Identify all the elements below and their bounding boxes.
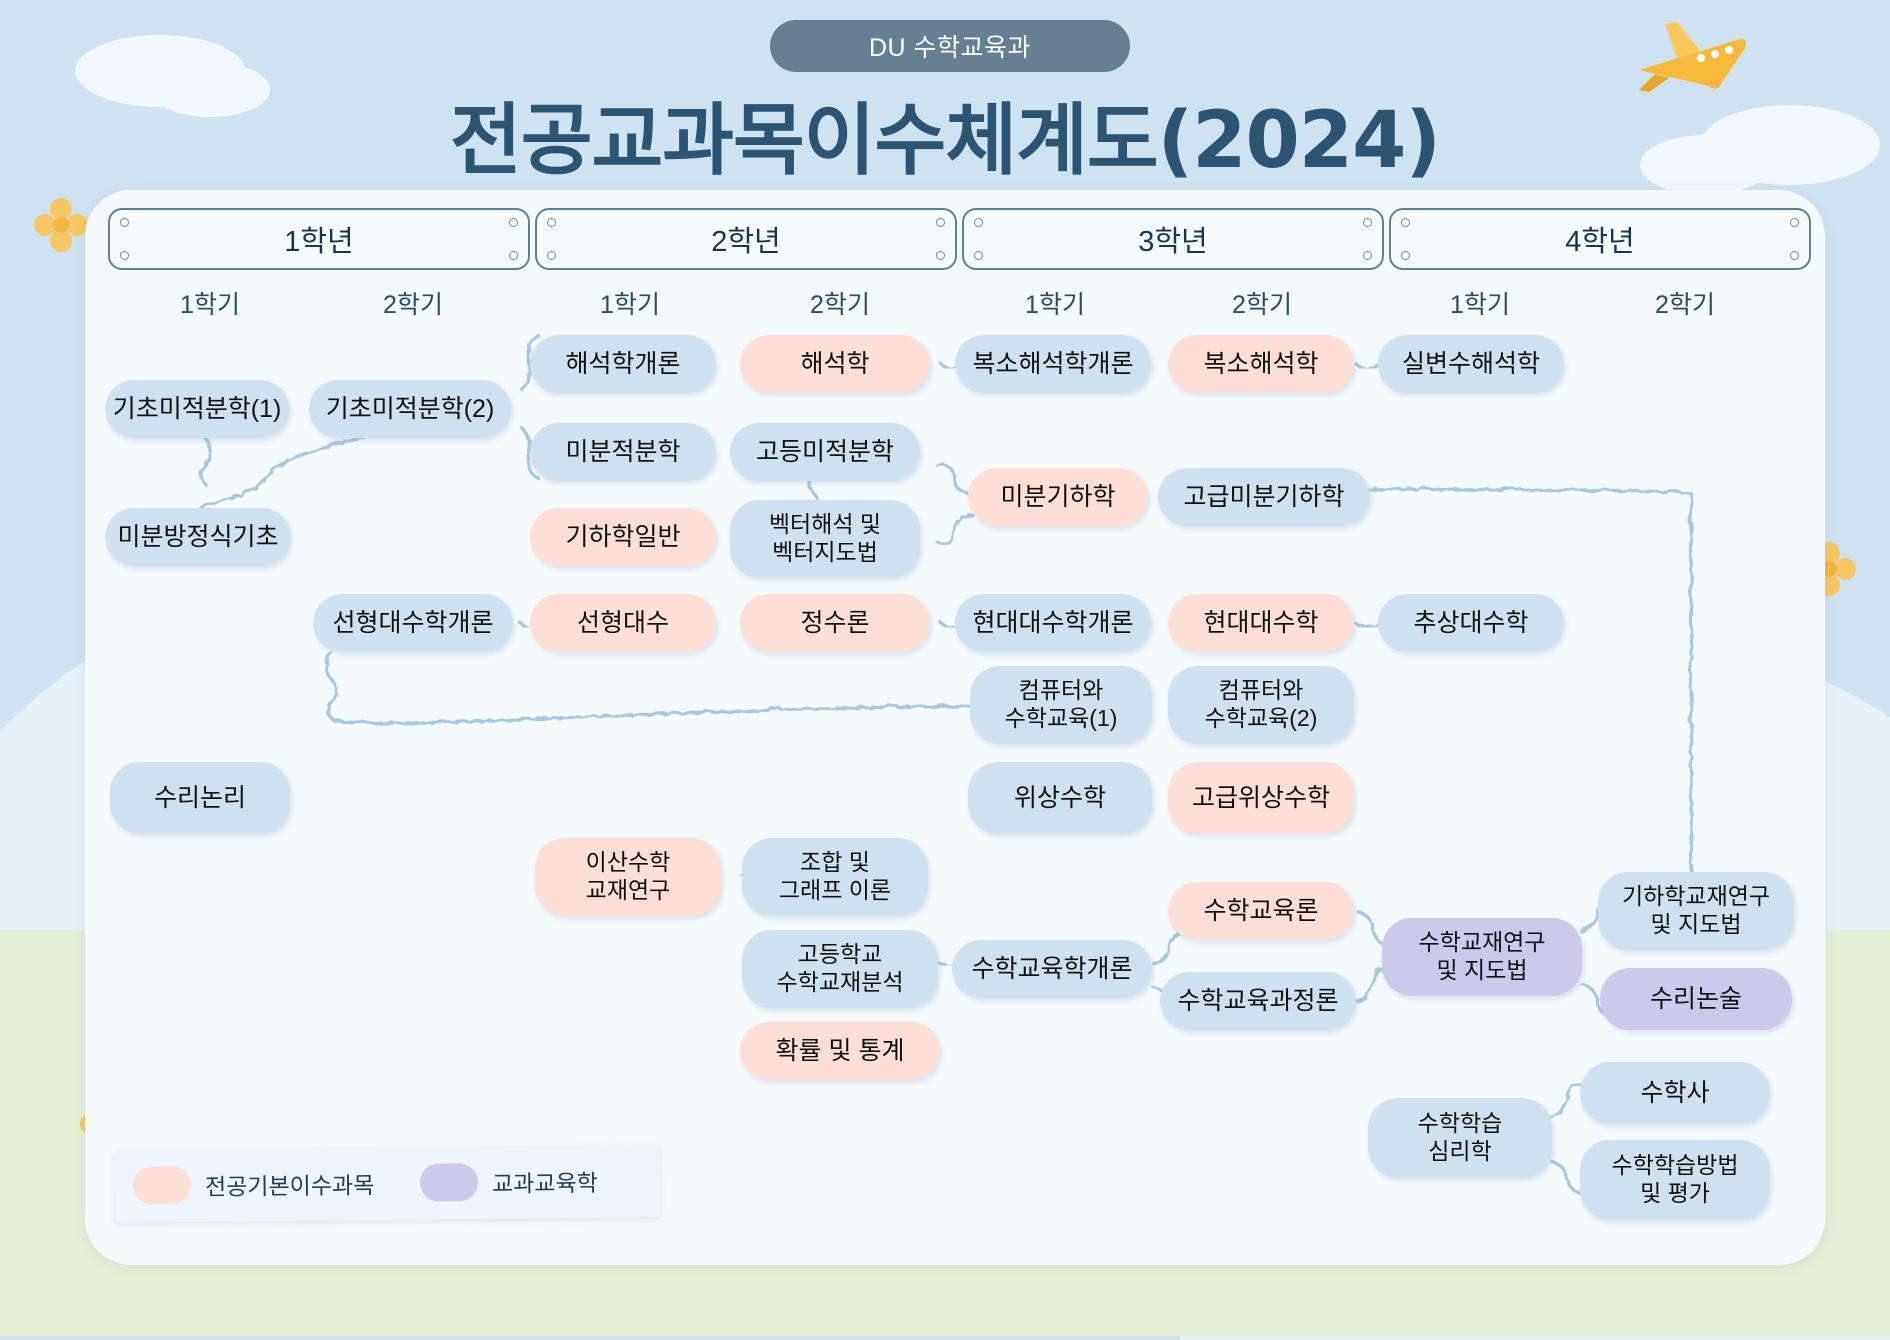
course-node[interactable]: 선형대수학개론	[313, 594, 513, 652]
course-node[interactable]: 조합 및 그래프 이론	[742, 838, 928, 916]
semester-label-1-2: 2학기	[323, 285, 503, 321]
course-node[interactable]: 컴퓨터와 수학교육(2)	[1168, 666, 1354, 744]
course-label: 수학교육론	[1203, 896, 1318, 926]
course-node[interactable]: 기초미적분학(1)	[105, 380, 289, 438]
legend-item-pedagogy: 교과교육학	[420, 1162, 598, 1202]
course-label: 위상수학	[1014, 783, 1106, 813]
course-label: 벡터해석 및 벡터지도법	[769, 511, 881, 566]
course-node[interactable]: 기초미적분학(2)	[309, 380, 511, 438]
course-node[interactable]: 현대대수학개론	[955, 594, 1151, 652]
department-badge: DU 수학교육과	[770, 20, 1130, 72]
course-node[interactable]: 수학학습 심리학	[1368, 1098, 1552, 1178]
year-header-3: 3학년	[962, 208, 1384, 270]
course-node[interactable]: 해석학개론	[530, 335, 716, 393]
semester-label-4-1: 1학기	[1390, 285, 1570, 321]
course-node[interactable]: 수학사	[1580, 1062, 1770, 1124]
course-node[interactable]: 수학학습방법 및 평가	[1580, 1140, 1770, 1220]
legend-label: 전공기본이수과목	[205, 1166, 375, 1202]
course-label: 고등학교 수학교재분석	[777, 941, 904, 996]
semester-label-2-2: 2학기	[750, 285, 930, 321]
legend-swatch-purple	[420, 1163, 478, 1202]
course-label: 고급미분기하학	[1183, 482, 1344, 512]
course-label: 수리논리	[154, 783, 246, 813]
legend-label: 교과교육학	[492, 1164, 598, 1199]
course-label: 선형대수	[577, 608, 669, 638]
course-label: 기초미적분학(1)	[113, 394, 282, 424]
course-node[interactable]: 추상대수학	[1378, 594, 1564, 652]
course-label: 수학학습 심리학	[1418, 1110, 1503, 1165]
course-label: 미분적분학	[565, 437, 680, 467]
course-node[interactable]: 선형대수	[530, 594, 716, 652]
course-label: 수학교육학개론	[971, 954, 1132, 984]
year-header-4: 4학년	[1389, 208, 1811, 270]
course-node[interactable]: 확률 및 통계	[740, 1022, 940, 1080]
course-label: 선형대수학개론	[332, 608, 493, 638]
course-label: 복소해석학	[1203, 349, 1318, 379]
year-header-2: 2학년	[535, 208, 957, 270]
semester-label-2-1: 1학기	[540, 285, 720, 321]
course-node[interactable]: 미분기하학	[968, 468, 1148, 526]
course-node[interactable]: 미분방정식기초	[105, 508, 291, 566]
course-node[interactable]: 고급위상수학	[1168, 762, 1354, 834]
course-label: 수학교육과정론	[1177, 986, 1338, 1016]
semester-label-4-2: 2학기	[1595, 285, 1775, 321]
course-label: 조합 및 그래프 이론	[779, 849, 891, 904]
year-label: 4학년	[1565, 218, 1635, 260]
course-node[interactable]: 컴퓨터와 수학교육(1)	[970, 666, 1152, 744]
course-node[interactable]: 고등미적분학	[730, 423, 920, 481]
course-label: 이산수학 교재연구	[586, 849, 671, 904]
course-node[interactable]: 수학교육과정론	[1160, 972, 1356, 1030]
course-label: 해석학개론	[565, 349, 680, 379]
legend-swatch-pink	[133, 1166, 191, 1205]
legend: 전공기본이수과목 교과교육학	[115, 1145, 661, 1223]
course-label: 수학교재연구 및 지도법	[1419, 929, 1546, 984]
course-node[interactable]: 복소해석학개론	[955, 335, 1151, 393]
course-node[interactable]: 해석학	[740, 335, 930, 393]
semester-label-3-1: 1학기	[965, 285, 1145, 321]
year-label: 2학년	[711, 218, 781, 260]
course-label: 고등미적분학	[756, 437, 894, 467]
course-node[interactable]: 미분적분학	[530, 423, 716, 481]
page-title: 전공교과목이수체계도(2024)	[0, 78, 1890, 190]
course-label: 기하학일반	[565, 522, 680, 552]
course-label: 수리논술	[1650, 984, 1742, 1014]
course-node[interactable]: 수학교육학개론	[952, 940, 1152, 998]
course-node[interactable]: 수리논리	[110, 762, 290, 834]
course-label: 현대대수학	[1203, 608, 1318, 638]
year-label: 1학년	[284, 218, 354, 260]
course-node[interactable]: 수리논술	[1600, 968, 1792, 1030]
course-node[interactable]: 수학교재연구 및 지도법	[1382, 918, 1582, 996]
course-node[interactable]: 기하학교재연구 및 지도법	[1598, 872, 1794, 950]
course-label: 해석학	[800, 349, 869, 379]
course-label: 추상대수학	[1413, 608, 1528, 638]
course-node[interactable]: 복소해석학	[1168, 335, 1354, 393]
course-label: 컴퓨터와 수학교육(2)	[1205, 677, 1318, 732]
course-node[interactable]: 이산수학 교재연구	[535, 838, 721, 916]
course-label: 복소해석학개론	[972, 349, 1133, 379]
legend-item-basic: 전공기본이수과목	[133, 1164, 375, 1205]
main-panel	[85, 190, 1825, 1265]
course-node[interactable]: 실변수해석학	[1378, 335, 1564, 393]
semester-label-1-1: 1학기	[120, 285, 300, 321]
course-label: 미분기하학	[1000, 482, 1115, 512]
course-node[interactable]: 고등학교 수학교재분석	[742, 930, 938, 1008]
course-node[interactable]: 수학교육론	[1168, 882, 1354, 940]
year-label: 3학년	[1138, 218, 1208, 260]
course-label: 실변수해석학	[1402, 349, 1540, 379]
course-node[interactable]: 고급미분기하학	[1158, 468, 1370, 526]
course-label: 확률 및 통계	[776, 1036, 905, 1066]
semester-label-3-2: 2학기	[1172, 285, 1352, 321]
course-node[interactable]: 기하학일반	[530, 508, 716, 566]
course-label: 컴퓨터와 수학교육(1)	[1005, 677, 1118, 732]
course-label: 정수론	[800, 608, 869, 638]
course-label: 미분방정식기초	[117, 522, 278, 552]
course-label: 현대대수학개론	[972, 608, 1133, 638]
course-label: 기초미적분학(2)	[326, 394, 495, 424]
course-label: 기하학교재연구 및 지도법	[1622, 883, 1770, 938]
flower-decoration	[32, 196, 90, 254]
year-header-1: 1학년	[108, 208, 530, 270]
course-node[interactable]: 현대대수학	[1168, 594, 1354, 652]
course-label: 수학학습방법 및 평가	[1612, 1152, 1739, 1207]
course-node[interactable]: 위상수학	[968, 762, 1152, 834]
course-label: 수학사	[1640, 1078, 1709, 1108]
course-label: 고급위상수학	[1192, 783, 1330, 813]
course-node[interactable]: 정수론	[740, 594, 930, 652]
course-node[interactable]: 벡터해석 및 벡터지도법	[730, 500, 920, 578]
department-label: DU 수학교육과	[869, 28, 1031, 64]
